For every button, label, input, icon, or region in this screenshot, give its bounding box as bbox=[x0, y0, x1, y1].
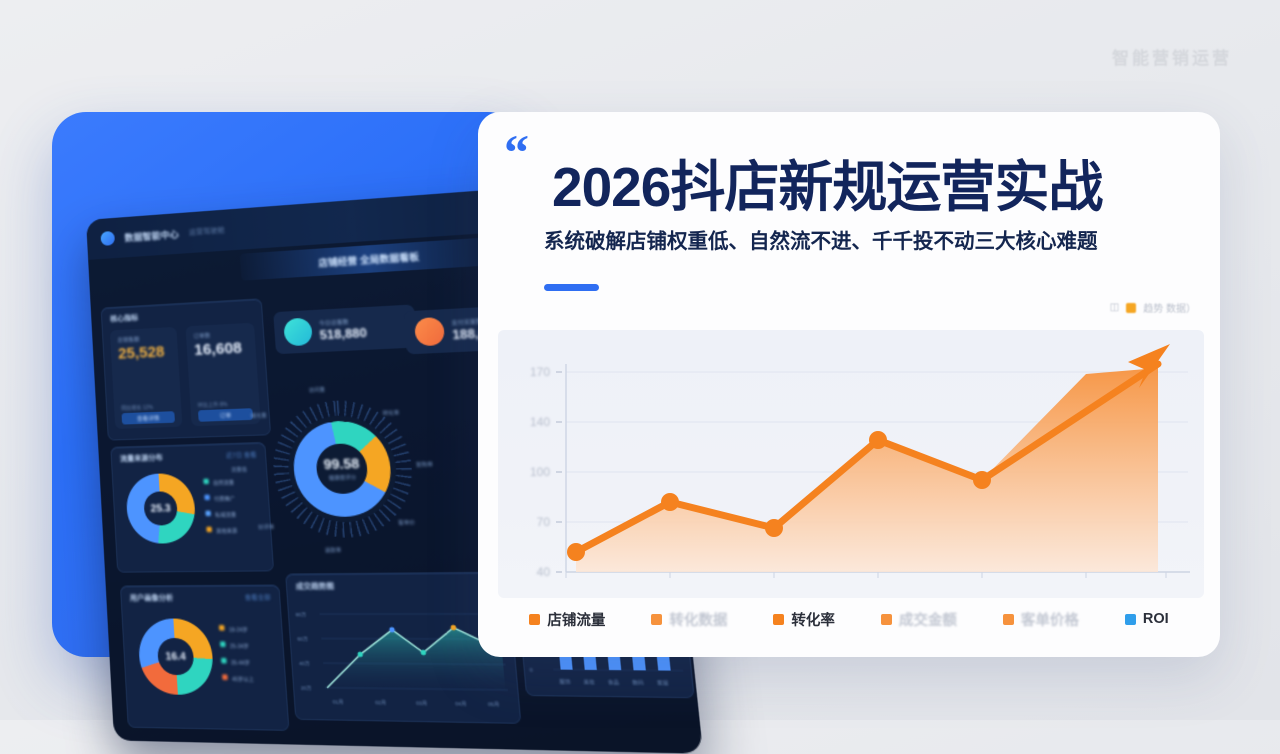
kpi-card[interactable]: 总销售额 25,528 同比增长 12% 查看详情 bbox=[110, 327, 183, 429]
svg-text:100: 100 bbox=[530, 465, 550, 479]
svg-text:60万: 60万 bbox=[297, 636, 309, 643]
legend-item[interactable]: 客单价格 bbox=[1003, 609, 1079, 630]
kpi-sub: 环比上升 8% bbox=[197, 401, 227, 410]
growth-area-chart: 170 140 100 70 40 bbox=[498, 330, 1204, 598]
svg-text:40: 40 bbox=[537, 565, 551, 579]
accent-divider bbox=[544, 284, 599, 291]
svg-text:03月: 03月 bbox=[416, 700, 428, 707]
donut-panel-action[interactable]: 查看全部 bbox=[244, 592, 270, 602]
calendar-icon: ◫ bbox=[1110, 302, 1119, 313]
svg-text:04月: 04月 bbox=[455, 701, 467, 708]
svg-text:数码: 数码 bbox=[632, 678, 645, 687]
chart-tag-swatch bbox=[1126, 303, 1136, 313]
legend-item[interactable]: 成交金额 bbox=[881, 609, 957, 630]
donut-panel: 用户画像分析 查看全部 16.4 18-24岁 25-34岁 35-44岁 45… bbox=[120, 584, 290, 730]
kpi-label: 总销售额 bbox=[117, 335, 140, 344]
legend-item[interactable]: ROI bbox=[1125, 611, 1169, 627]
legend-label: 转化率 bbox=[791, 609, 835, 630]
legend-swatch bbox=[1003, 614, 1014, 625]
legend-item[interactable]: 转化数据 bbox=[651, 609, 727, 630]
dashboard-banner-text: 店铺经营 全局数据看板 bbox=[318, 249, 420, 269]
legend-label: 店铺流量 bbox=[547, 609, 605, 630]
content-panel: “ 2026抖店新规运营实战 系统破解店铺权重低、自然流不进、千千投不动三大核心… bbox=[478, 112, 1220, 657]
svg-text:01月: 01月 bbox=[332, 699, 343, 706]
kpi-value: 25,528 bbox=[118, 343, 165, 363]
chart-tag[interactable]: ◫ 趋势 数据） bbox=[1110, 300, 1196, 315]
kpi-label: 订单数 bbox=[193, 331, 211, 340]
svg-text:40万: 40万 bbox=[299, 661, 311, 668]
legend-swatch bbox=[651, 614, 662, 625]
kpi-button[interactable]: 查看详情 bbox=[121, 411, 175, 424]
gauge-readout: 99.58 健康度评分 bbox=[269, 398, 417, 539]
donut-chart: 16.4 bbox=[137, 619, 215, 696]
trend-panel-title: 成交趋势图 bbox=[295, 581, 334, 592]
donut-chart: 25.3 bbox=[125, 473, 197, 544]
quote-mark-icon: “ bbox=[504, 134, 529, 170]
gauge-tick-label: 曝光量 bbox=[250, 412, 266, 420]
svg-text:20万: 20万 bbox=[301, 685, 313, 692]
legend-label: ROI bbox=[1143, 611, 1169, 627]
gauge-sub: 健康度评分 bbox=[328, 474, 356, 482]
dashboard-brand: 数据智能中心 bbox=[124, 227, 179, 244]
kpi-sub: 同比增长 12% bbox=[121, 404, 153, 412]
chart-legend: 店铺流量 转化数据 转化率 成交金额 客单价格 ROI bbox=[478, 605, 1220, 633]
kpi-value: 16,608 bbox=[194, 339, 243, 359]
svg-text:0: 0 bbox=[529, 667, 533, 673]
donut-center-value: 16.4 bbox=[137, 619, 215, 696]
svg-text:140: 140 bbox=[530, 415, 550, 429]
gauge-tick-label: 好评率 bbox=[258, 523, 275, 531]
legend-swatch bbox=[773, 614, 784, 625]
kpi-button[interactable]: 订单 bbox=[198, 408, 253, 422]
dashboard-nav: 运营驾驶舱 bbox=[189, 225, 225, 238]
slide-canvas: 智能营销运营 数据智能中心 运营驾驶舱 店铺经营 全局数据看板 核心指标 总销售… bbox=[0, 0, 1280, 720]
area-fill bbox=[576, 368, 1158, 572]
orange-circle-icon bbox=[414, 317, 445, 347]
donut-legend: 18-24岁 25-34岁 35-44岁 45岁以上 bbox=[219, 625, 254, 683]
donut-panel-title: 流量来源分布 bbox=[120, 452, 163, 464]
gauge-tick-label: 流量值 bbox=[231, 466, 247, 474]
svg-text:170: 170 bbox=[530, 365, 550, 379]
gauge-value: 99.58 bbox=[323, 455, 360, 472]
dashboard-mockup: 数据智能中心 运营驾驶舱 店铺经营 全局数据看板 核心指标 总销售额 25,52… bbox=[52, 112, 552, 662]
cyan-circle-icon bbox=[283, 318, 313, 347]
legend-swatch bbox=[881, 614, 892, 625]
svg-text:02月: 02月 bbox=[375, 700, 386, 707]
legend-swatch bbox=[1125, 614, 1136, 625]
svg-text:服饰: 服饰 bbox=[559, 678, 571, 686]
pill-value: 518,880 bbox=[319, 325, 367, 342]
page-title: 2026抖店新规运营实战 bbox=[552, 142, 1198, 222]
svg-text:美妆: 美妆 bbox=[583, 678, 596, 686]
metric-pill[interactable]: 今日访客数 518,880 bbox=[273, 304, 417, 354]
watermark-text: 智能营销运营 bbox=[1112, 44, 1232, 69]
svg-text:80万: 80万 bbox=[295, 612, 307, 619]
svg-text:食品: 食品 bbox=[607, 678, 620, 686]
donut-center-value: 25.3 bbox=[125, 473, 197, 544]
chart-area: 170 140 100 70 40 bbox=[498, 330, 1204, 598]
legend-item[interactable]: 转化率 bbox=[773, 609, 835, 630]
legend-swatch bbox=[529, 614, 540, 625]
svg-text:家居: 家居 bbox=[657, 679, 670, 688]
donut-panel: 流量来源分布 近7日 查看 25.3 自然流量 付费推广 私域流量 其他来源 bbox=[110, 442, 274, 573]
svg-text:05月: 05月 bbox=[488, 701, 500, 708]
page-subtitle: 系统破解店铺权重低、自然流不进、千千投不动三大核心难题 bbox=[544, 224, 1210, 254]
donut-legend: 自然流量 付费推广 私域流量 其他来源 bbox=[203, 478, 237, 535]
chart-tag-label: 趋势 数据） bbox=[1143, 300, 1196, 315]
gauge-tick-label: 访问量 bbox=[308, 386, 325, 394]
gauge-chart: 99.58 健康度评分 bbox=[269, 398, 417, 539]
brand-logo-icon bbox=[100, 231, 115, 246]
svg-text:70: 70 bbox=[537, 515, 551, 529]
kpi-card[interactable]: 订单数 16,608 环比上升 8% 订单 bbox=[185, 323, 260, 427]
gauge-tick-label: 退款率 bbox=[325, 547, 342, 555]
legend-label: 客单价格 bbox=[1021, 609, 1079, 630]
kpi-panel-title: 核心指标 bbox=[110, 313, 139, 325]
legend-item[interactable]: 店铺流量 bbox=[529, 609, 605, 630]
kpi-panel: 核心指标 总销售额 25,528 同比增长 12% 查看详情 订单数 16,60… bbox=[101, 298, 272, 440]
legend-label: 转化数据 bbox=[669, 609, 727, 630]
legend-label: 成交金额 bbox=[899, 609, 957, 630]
gauge-tick-label: 复购率 bbox=[416, 461, 434, 469]
donut-panel-action[interactable]: 近7日 查看 bbox=[226, 450, 257, 460]
donut-panel-title: 用户画像分析 bbox=[130, 593, 174, 604]
